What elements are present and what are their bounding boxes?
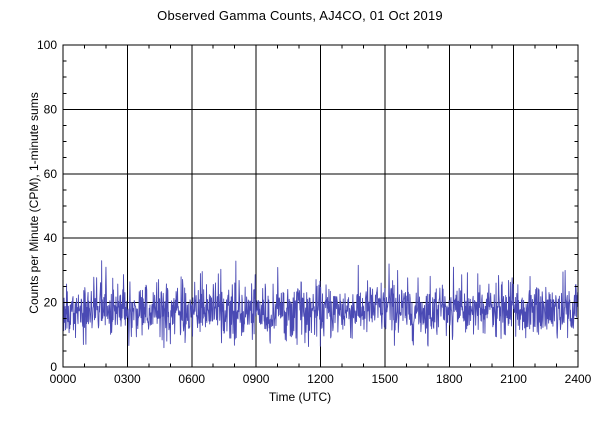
svg-text:0300: 0300: [114, 372, 141, 386]
svg-text:2400: 2400: [565, 372, 592, 386]
svg-text:80: 80: [44, 102, 58, 116]
plot-canvas: 0000030006000900120015001800210024000204…: [0, 0, 600, 428]
svg-text:0900: 0900: [243, 372, 270, 386]
svg-text:0: 0: [50, 360, 57, 374]
svg-text:20: 20: [44, 296, 58, 310]
svg-text:1800: 1800: [436, 372, 463, 386]
svg-text:1500: 1500: [372, 372, 399, 386]
svg-text:2100: 2100: [500, 372, 527, 386]
svg-text:0600: 0600: [178, 372, 205, 386]
svg-text:1200: 1200: [307, 372, 334, 386]
svg-text:100: 100: [37, 38, 57, 52]
svg-text:60: 60: [44, 167, 58, 181]
svg-text:0000: 0000: [50, 372, 77, 386]
chart-figure: Observed Gamma Counts, AJ4CO, 01 Oct 201…: [0, 0, 600, 428]
svg-text:40: 40: [44, 231, 58, 245]
